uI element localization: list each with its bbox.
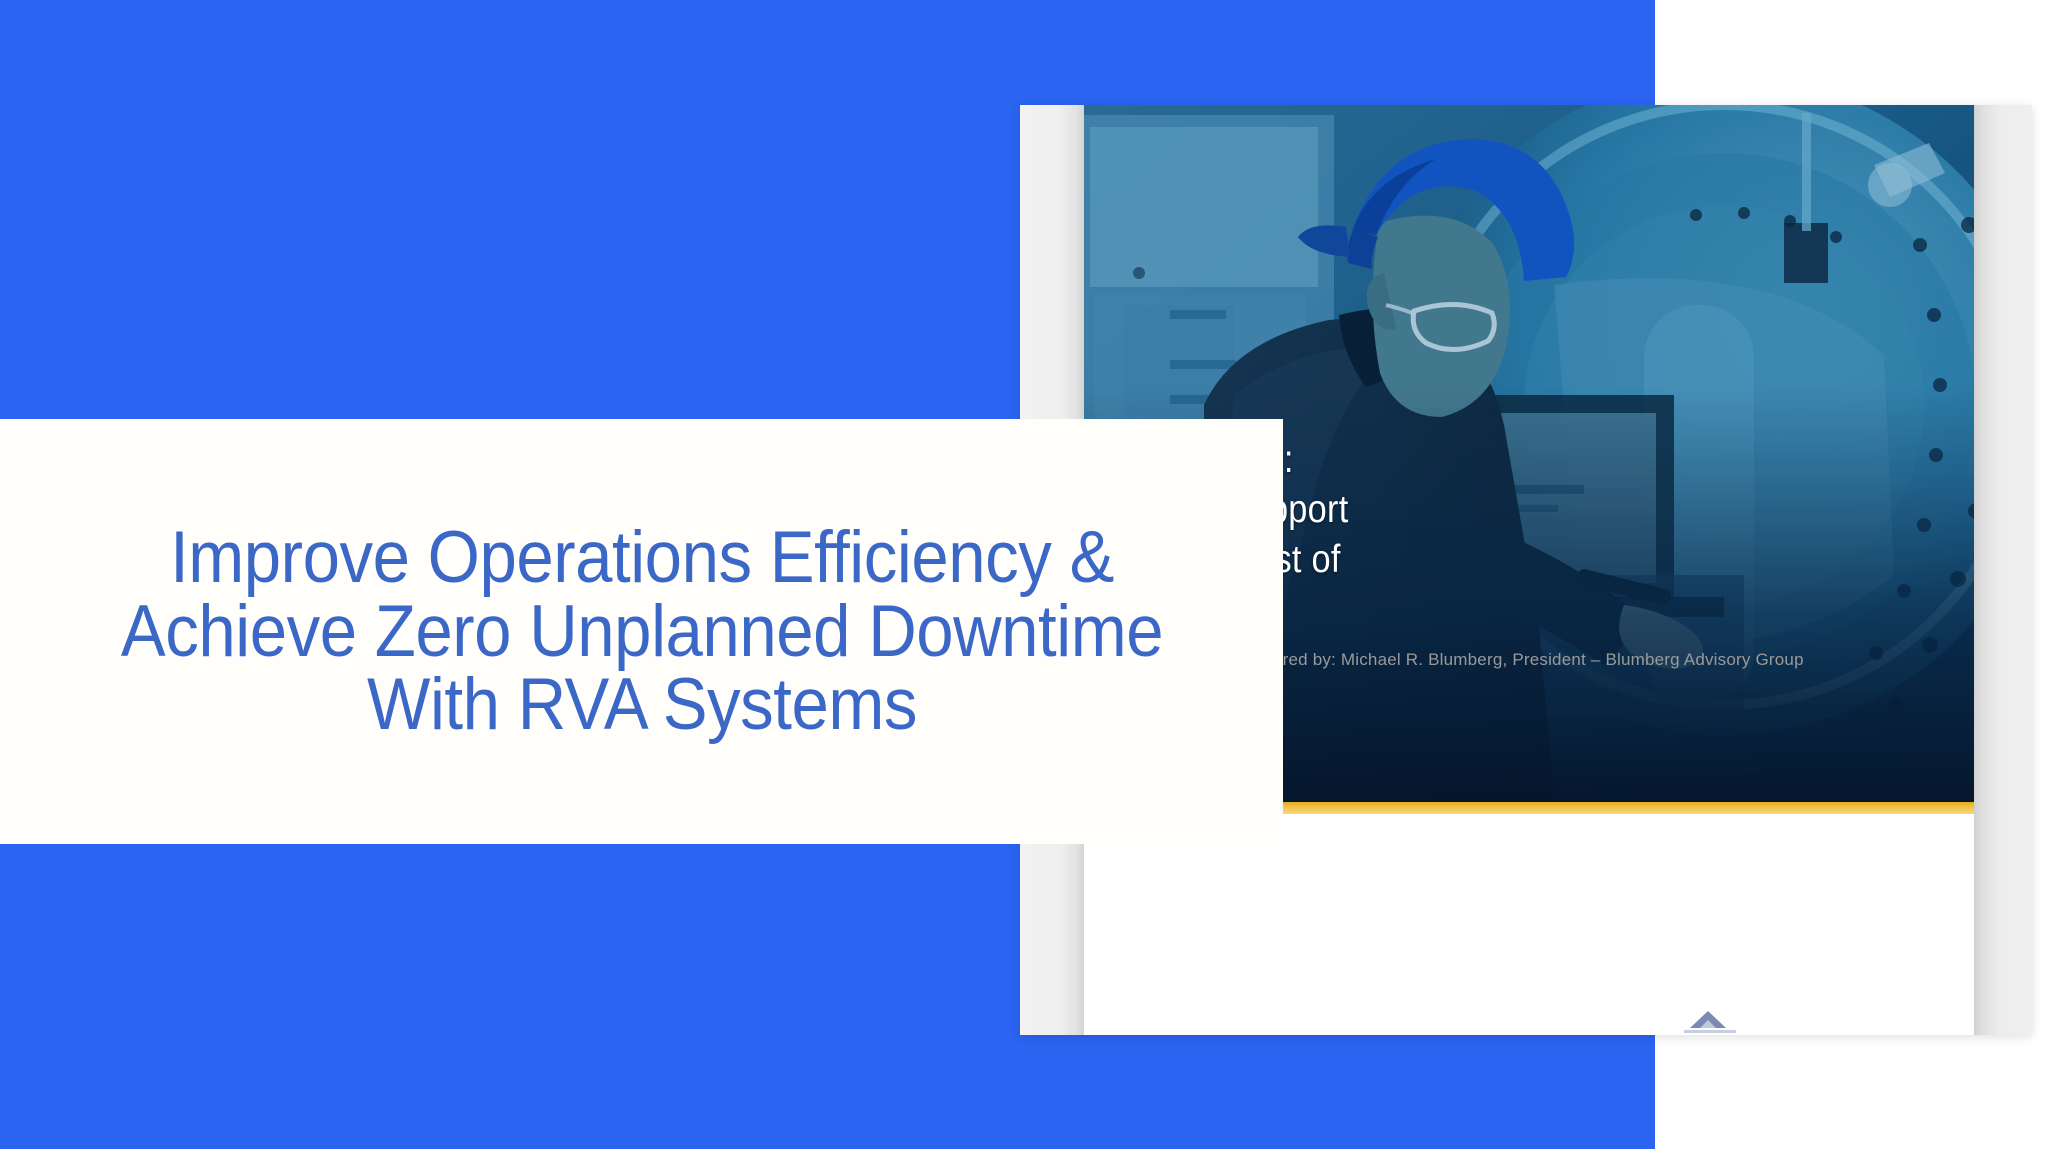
slide-title: Improve Operations Efficiency & Achieve … [94, 521, 1189, 742]
background-block-bottom-middle [1030, 1035, 1655, 1149]
document-page-gutter-right [1974, 105, 2032, 1035]
slide-title-panel: Improve Operations Efficiency & Achieve … [0, 419, 1283, 844]
company-logo-icon [1656, 998, 1776, 1035]
background-block-bottom-left [0, 844, 1030, 1149]
presentation-slide: te Visual Assistance: ptimal Last Mile S… [0, 0, 2048, 1149]
